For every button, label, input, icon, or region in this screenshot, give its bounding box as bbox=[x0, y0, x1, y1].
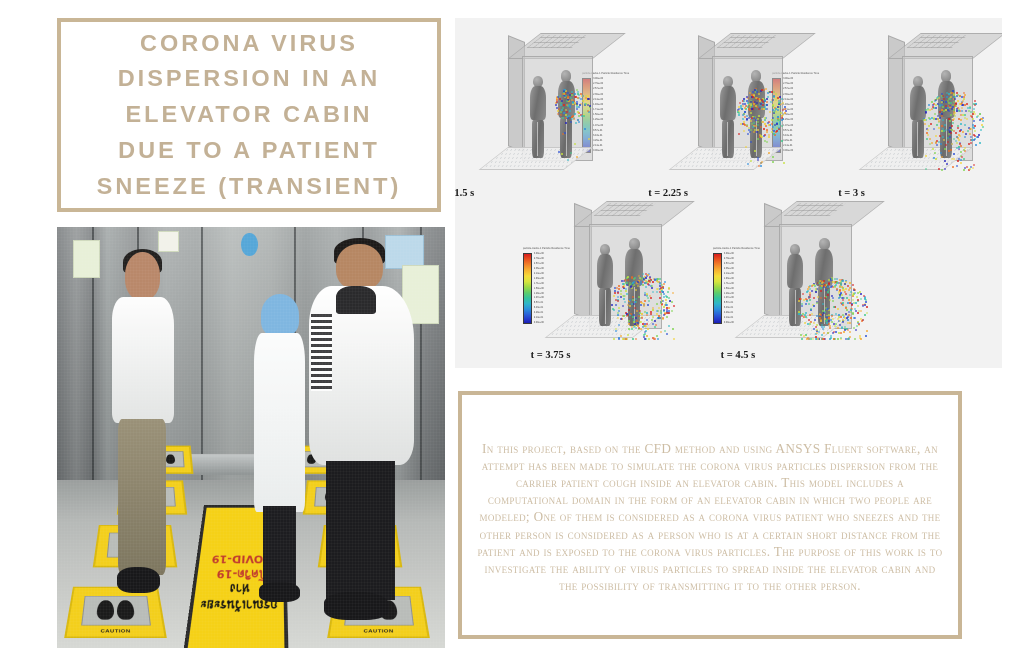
description-card: In this project, based on the CFD method… bbox=[458, 391, 962, 639]
simulation-frame-3: t = 3 s bbox=[823, 26, 1002, 204]
colorbar-tick-label: 2.14e+00 bbox=[724, 273, 734, 275]
mannequin-patient bbox=[624, 238, 644, 326]
simulation-panel: particle-tracks-1 Particle Residence Tim… bbox=[455, 18, 1002, 368]
trousers bbox=[263, 506, 297, 589]
mannequin-patient bbox=[814, 238, 834, 326]
description-text: In this project, based on the CFD method… bbox=[462, 436, 958, 594]
mannequin-exposed-person bbox=[909, 76, 927, 159]
page-title: Corona virus dispersion in an elevator c… bbox=[85, 26, 414, 205]
white-polo-shirt bbox=[112, 297, 174, 423]
cfd-scene bbox=[698, 33, 804, 175]
person-left bbox=[107, 252, 185, 622]
colorbar-tick-label: 1.29e+00 bbox=[534, 293, 544, 295]
mannequin-exposed-person bbox=[719, 76, 737, 159]
colorbar-tick-label: 1.07e+00 bbox=[724, 297, 734, 299]
time-step-label: t = 4.5 s bbox=[721, 350, 756, 361]
title-card: Corona virus dispersion in an elevator c… bbox=[57, 18, 441, 212]
legend-title: particle-tracks-1 Particle Residence Tim… bbox=[523, 247, 570, 251]
head bbox=[336, 244, 382, 290]
simulation-frame-1: particle-tracks-1 Particle Residence Tim… bbox=[455, 26, 633, 204]
legend-title: particle-tracks-1 Particle Residence Tim… bbox=[713, 247, 760, 251]
colorbar-tick-label: 1.93e+00 bbox=[724, 278, 734, 280]
black-trousers bbox=[326, 461, 395, 600]
colorbar-tick-label: 3.00e+00 bbox=[534, 253, 544, 255]
colorbar-legend: particle-tracks-1 Particle Residence Tim… bbox=[713, 247, 760, 318]
mannequin-patient bbox=[937, 70, 956, 158]
mannequin-exposed-person bbox=[596, 244, 615, 327]
simulation-frame-4: particle-tracks-1 Particle Residence Tim… bbox=[515, 194, 711, 368]
khaki-trousers bbox=[118, 419, 166, 575]
simulation-row-2: particle-tracks-1 Particle Residence Tim… bbox=[455, 194, 1002, 368]
blue-sticker-icon bbox=[241, 233, 257, 256]
colorbar-legend: particle-tracks-1 Particle Residence Tim… bbox=[523, 247, 570, 318]
colorbar-ticks: 3.00e+002.79e+002.57e+002.36e+002.14e+00… bbox=[534, 253, 544, 324]
colorbar-tick-label: 3.00e+00 bbox=[724, 253, 734, 255]
simulation-frame-2: particle-tracks-1 Particle Residence Tim… bbox=[633, 26, 823, 204]
shoe bbox=[117, 567, 160, 593]
simulation-row-1: particle-tracks-1 Particle Residence Tim… bbox=[455, 26, 1002, 204]
colorbar-tick-label: 1.71e+00 bbox=[534, 283, 544, 285]
wall-notice bbox=[73, 240, 100, 278]
cfd-scene bbox=[508, 33, 614, 175]
colorbar-tick-label: 2.57e+00 bbox=[724, 263, 734, 265]
poster-page: Corona virus dispersion in an elevator c… bbox=[0, 0, 1020, 664]
cfd-scene bbox=[574, 201, 684, 343]
shoe bbox=[324, 592, 389, 619]
person-middle bbox=[251, 294, 309, 614]
colorbar bbox=[523, 253, 532, 324]
colorbar-tick-label: 1.29e+00 bbox=[724, 293, 734, 295]
blue-surgical-cap bbox=[261, 294, 298, 336]
colorbar-tick-label: 2.36e+00 bbox=[724, 268, 734, 270]
head bbox=[125, 252, 161, 300]
mannequin-patient bbox=[557, 70, 576, 158]
person-right bbox=[309, 244, 414, 631]
colorbar-tick-label: 6.43e-01 bbox=[724, 307, 734, 309]
shirt-stripe bbox=[311, 314, 332, 391]
colorbar-tick-label: 2.57e+00 bbox=[534, 263, 544, 265]
photo-content: CAUTION CAUTION CAUTION CAUTION กรุณาเว้… bbox=[57, 227, 445, 648]
colorbar-tick-label: 6.43e-01 bbox=[534, 307, 544, 309]
colorbar-tick-label: 1.07e+00 bbox=[534, 297, 544, 299]
colorbar-tick-label: 2.36e+00 bbox=[534, 268, 544, 270]
collar bbox=[336, 286, 376, 313]
colorbar-tick-label: 1.71e+00 bbox=[724, 283, 734, 285]
colorbar-tick-label: 4.29e-01 bbox=[724, 312, 734, 314]
colorbar-tick-label: 2.79e+00 bbox=[724, 258, 734, 260]
colorbar bbox=[713, 253, 722, 324]
colorbar-tick-label: 1.50e+00 bbox=[724, 288, 734, 290]
elevator-photo: CAUTION CAUTION CAUTION CAUTION กรุณาเว้… bbox=[57, 227, 445, 648]
cfd-scene bbox=[888, 33, 994, 175]
simulation-frame-5: particle-tracks-1 Particle Residence Tim… bbox=[705, 194, 901, 368]
caution-label: CAUTION bbox=[67, 629, 164, 634]
colorbar-tick-label: 8.57e-01 bbox=[534, 302, 544, 304]
colorbar-tick-label: 2.14e-01 bbox=[724, 317, 734, 319]
shoe bbox=[259, 582, 300, 601]
mannequin-patient bbox=[747, 70, 766, 158]
wall-notice bbox=[158, 231, 179, 252]
colorbar-tick-label: 2.14e+00 bbox=[534, 273, 544, 275]
colorbar-tick-label: 1.93e+00 bbox=[534, 278, 544, 280]
colorbar-tick-label: 0.00e+00 bbox=[724, 322, 734, 324]
time-step-label: t = 3.75 s bbox=[531, 350, 571, 361]
colorbar-tick-label: 0.00e+00 bbox=[534, 322, 544, 324]
colorbar-tick-label: 4.29e-01 bbox=[534, 312, 544, 314]
colorbar-tick-label: 2.14e-01 bbox=[534, 317, 544, 319]
wall-seam bbox=[201, 227, 203, 488]
mannequin-exposed-person bbox=[529, 76, 547, 159]
mannequin-exposed-person bbox=[786, 244, 805, 327]
colorbar-tick-label: 1.50e+00 bbox=[534, 288, 544, 290]
colorbar-ticks: 3.00e+002.79e+002.57e+002.36e+002.14e+00… bbox=[724, 253, 734, 324]
white-lab-coat bbox=[254, 333, 304, 512]
colorbar-tick-label: 2.79e+00 bbox=[534, 258, 544, 260]
colorbar-tick-label: 8.57e-01 bbox=[724, 302, 734, 304]
cfd-scene bbox=[764, 201, 874, 343]
